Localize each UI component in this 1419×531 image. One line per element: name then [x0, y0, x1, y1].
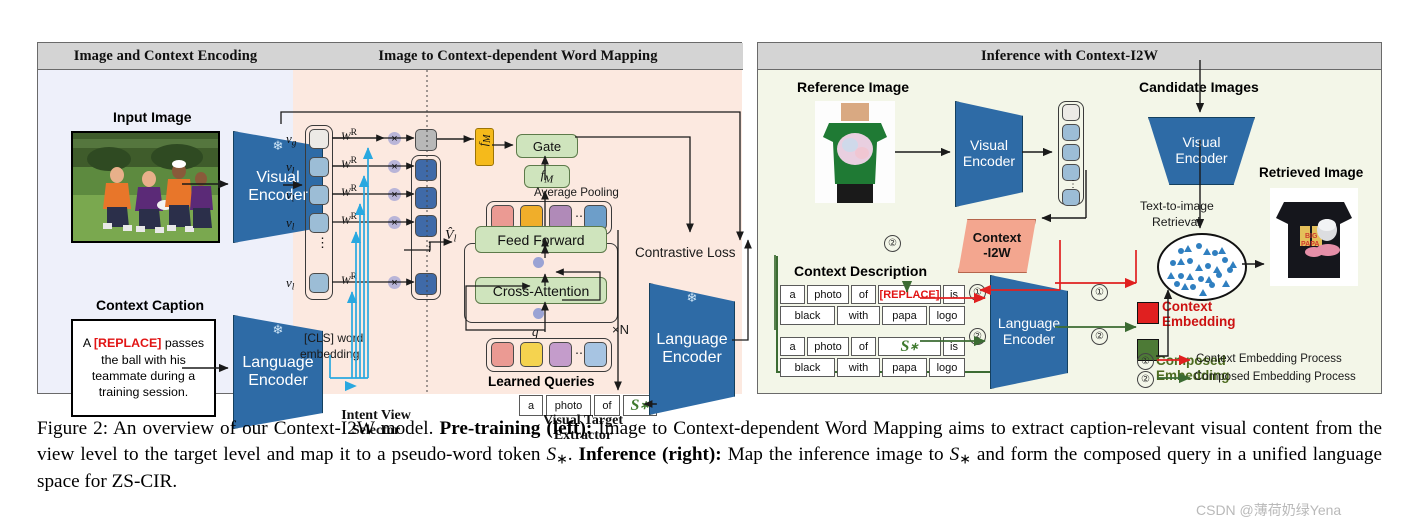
desc2-tok-with: with	[837, 358, 880, 377]
retrieval-label-line1: Text-to-image	[1140, 199, 1214, 213]
caption-pre: A	[83, 336, 94, 350]
caption-bold-pretraining: Pre-training (left):	[439, 418, 592, 439]
gate-box: Gate	[516, 134, 578, 158]
feature-cell-global	[309, 129, 329, 149]
feature-label-vl-1: vl	[286, 159, 294, 176]
legend-marker-2: ②	[1137, 371, 1154, 388]
caption-replace-token: [REPLACE]	[94, 336, 161, 350]
fm-label-rotated: fM	[476, 129, 493, 146]
feature-cell-local-n	[309, 273, 329, 293]
ve-cand-line1: Visual	[1183, 135, 1221, 151]
context-caption-box: A [REPLACE] passes the ball with his tea…	[71, 319, 216, 417]
desc2-tok-photo: photo	[807, 337, 849, 356]
caption-seg-3: .	[568, 444, 579, 465]
figure-caption: Figure 2: An overview of our Context-I2W…	[37, 416, 1382, 495]
feed-forward-box: Feed Forward	[475, 226, 607, 253]
context-caption-label: Context Caption	[96, 297, 204, 313]
fm-gate-module-yellow: fM	[475, 128, 494, 166]
language-encoder-line2: Encoder	[248, 372, 308, 390]
feature-label-vl-3: vl	[286, 215, 294, 232]
weighted-cell-global	[415, 129, 437, 151]
desc1-tok-with: with	[837, 306, 880, 325]
context-i2w-line1: Context	[973, 231, 1021, 246]
marker-1-desc: ①	[969, 284, 986, 301]
lang-enc-map-line1: Language	[656, 331, 727, 349]
feature-cell-local-3	[309, 213, 329, 233]
context-description-label: Context Description	[794, 263, 927, 279]
retrieval-label-line2: Retrieval	[1152, 215, 1200, 229]
caption-math-s-2: S	[950, 444, 960, 465]
snowflake-icon: ❄	[273, 139, 284, 154]
language-encoder-mapping: ❄ Language Encoder	[649, 283, 735, 415]
caption-seg-4: Map the inference image to	[722, 444, 950, 465]
ellipsis-vertical-icon-2: ⋮	[423, 239, 436, 255]
cls-embedding-line2: embedding	[300, 347, 359, 361]
watermark: CSDN @薄荷奶绿Yena	[1196, 500, 1341, 520]
multiply-node-5: ×	[388, 276, 401, 289]
le-inf-line1: Language	[998, 316, 1060, 332]
ref-cell-global	[1062, 104, 1080, 121]
figure-canvas: Image and Context Encoding Image to Cont…	[0, 0, 1419, 531]
feature-label-vl-2: vl	[286, 187, 294, 204]
learned-query-cell-1	[491, 342, 514, 367]
marker-2-desc: ②	[884, 235, 901, 252]
ellipsis-vertical-icon: ⋮	[316, 235, 329, 251]
marker-1-out: ①	[1091, 284, 1108, 301]
retrieved-image-label: Retrieved Image	[1259, 165, 1363, 180]
desc1-tok-replace: [REPLACE]	[878, 285, 941, 304]
desc2-tok-is: is	[943, 337, 965, 356]
legend-text-1: Context Embedding Process	[1196, 353, 1342, 365]
desc1-tok-papa: papa	[882, 306, 927, 325]
language-encoder-inference: Language Encoder	[990, 275, 1068, 389]
svg-text:PAPA: PAPA	[1301, 241, 1319, 248]
lang-enc-map-line2: Encoder	[662, 349, 722, 367]
svg-text:BIG: BIG	[1305, 233, 1318, 240]
panel-header-inference: Inference with Context-I2W	[758, 43, 1381, 70]
fm-box: fM	[524, 165, 570, 188]
weighted-cell-3	[415, 215, 437, 237]
panel-header-word-mapping: Image to Context-dependent Word Mapping	[293, 43, 743, 70]
caption-bold-inference: Inference (right):	[579, 444, 722, 465]
learned-query-cell-2	[520, 342, 543, 367]
embedding-space-ellipse	[1157, 233, 1247, 301]
desc1-tok-of: of	[851, 285, 876, 304]
weighted-cell-1	[415, 159, 437, 181]
weighted-cell-n	[415, 273, 437, 295]
marker-2-out: ②	[1091, 328, 1108, 345]
reference-image-photo	[815, 101, 895, 203]
residual-add-node-1	[533, 257, 544, 268]
projection-label-2: WR	[341, 155, 357, 171]
desc1-tok-photo: photo	[807, 285, 849, 304]
weighted-cell-2	[415, 187, 437, 209]
feature-label-vg: vg	[286, 131, 296, 148]
desc1-tok-logo: logo	[929, 306, 965, 325]
desc1-tok-black: black	[780, 306, 835, 325]
input-image-photo	[71, 131, 220, 243]
ve-ref-line2: Encoder	[963, 154, 1015, 170]
panel-header-image-context-encoding: Image and Context Encoding	[38, 43, 294, 70]
prompt-token-a: a	[519, 395, 543, 416]
caption-math-s-1: S	[547, 444, 557, 465]
legend-marker-1: ①	[1137, 353, 1154, 370]
marker-2-desc-2: ②	[969, 328, 986, 345]
feature-cell-local-1	[309, 157, 329, 177]
learned-query-cell-3	[549, 342, 572, 367]
pretraining-panel: Image and Context Encoding Image to Cont…	[37, 42, 742, 394]
snowflake-icon: ❄	[687, 291, 698, 306]
projection-label-4: WR	[341, 211, 357, 227]
contrastive-loss-label: Contrastive Loss	[635, 245, 736, 260]
context-embedding-label: ContextEmbedding	[1162, 299, 1236, 330]
projection-label-3: WR	[341, 183, 357, 199]
reference-image-label: Reference Image	[797, 79, 909, 95]
desc2-tok-papa: papa	[882, 358, 927, 377]
inference-panel: Inference with Context-I2W Reference Ima…	[757, 42, 1382, 394]
legend-text-2: Composed Embedding Process	[1194, 371, 1356, 383]
desc1-tok-a: a	[780, 285, 805, 304]
caption-math-star-2: ∗	[959, 452, 971, 467]
ref-cell-n	[1062, 189, 1080, 206]
ref-cell-2	[1062, 144, 1080, 161]
ve-cand-line2: Encoder	[1175, 151, 1227, 167]
average-pooling-label: Average Pooling	[534, 186, 619, 199]
desc2-tok-a: a	[780, 337, 805, 356]
repeat-n-label: ×N	[612, 322, 629, 337]
candidate-images-label: Candidate Images	[1139, 79, 1259, 95]
cls-embedding-line1: [CLS] word	[304, 331, 363, 345]
desc1-tok-is: is	[943, 285, 965, 304]
retrieved-image-photo: BIG PAPA	[1270, 188, 1358, 286]
projection-label-5: WR	[341, 271, 357, 287]
visual-encoder-line2: Encoder	[248, 187, 308, 205]
multiply-node-3: ×	[388, 188, 401, 201]
le-inf-line2: Encoder	[1003, 332, 1055, 348]
learned-query-cell-4	[584, 342, 607, 367]
context-embedding-square	[1137, 302, 1159, 324]
residual-add-node-2	[533, 308, 544, 319]
caption-seg-1: Figure 2: An overview of our Context-I2W…	[37, 418, 439, 439]
cross-attention-box: Cross-Attention	[475, 277, 607, 304]
weighted-feature-label: V̂l	[445, 228, 456, 245]
projection-label-1: WR	[341, 127, 357, 143]
desc2-tok-of: of	[851, 337, 876, 356]
multiply-node-2: ×	[388, 160, 401, 173]
multiply-node-4: ×	[388, 216, 401, 229]
desc2-tok-logo: logo	[929, 358, 965, 377]
feature-cell-local-2	[309, 185, 329, 205]
caption-math-star-1: ∗	[556, 452, 568, 467]
multiply-node-1: ×	[388, 132, 401, 145]
ve-ref-line1: Visual	[970, 138, 1008, 154]
visual-encoder-reference: Visual Encoder	[955, 101, 1023, 207]
desc2-tok-black: black	[780, 358, 835, 377]
ref-cell-1	[1062, 124, 1080, 141]
learned-queries-label: Learned Queries	[488, 374, 595, 389]
feature-label-vl-n: vl	[286, 275, 294, 292]
snowflake-icon: ❄	[273, 323, 284, 338]
input-image-label: Input Image	[113, 109, 192, 125]
desc2-tok-pseudo-word: S∗	[878, 337, 941, 356]
